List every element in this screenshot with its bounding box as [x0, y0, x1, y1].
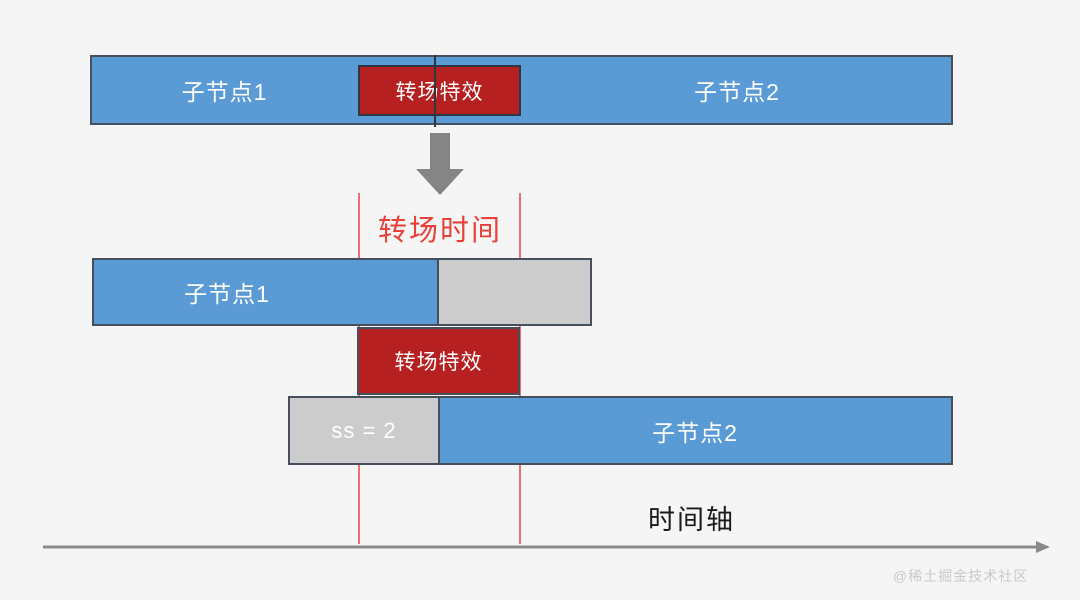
top-bar-child2-label: 子节点2 [522, 57, 952, 123]
row-child2-label: 子节点2 [610, 398, 780, 463]
arrow-down-icon [412, 133, 468, 197]
row-transition-effect-block: 转场特效 [357, 327, 520, 395]
row-child1-label: 子节点1 [94, 260, 360, 324]
top-bar-transition-effect-box: 转场特效 [358, 65, 521, 116]
timeline-axis-label: 时间轴 [648, 498, 735, 537]
diagram-canvas: 子节点1 转场特效 子节点2 转场时间 子节点1 转场特效 ss = 2 子节点… [0, 0, 1080, 600]
arrow-right-icon [43, 541, 1050, 553]
row-child1-grey-tail [437, 258, 592, 326]
watermark: @稀土掘金技术社区 [893, 566, 1028, 586]
row-child1-blue-block: 子节点1 [92, 258, 439, 326]
top-bar-child1-label: 子节点1 [92, 57, 357, 123]
transition-time-label: 转场时间 [362, 206, 518, 250]
top-bar-divider [434, 55, 436, 127]
row-child2-grey-head: ss = 2 [288, 396, 440, 465]
top-composite-bar: 子节点1 转场特效 子节点2 [90, 55, 953, 125]
row-child2-blue-block: 子节点2 [438, 396, 953, 465]
